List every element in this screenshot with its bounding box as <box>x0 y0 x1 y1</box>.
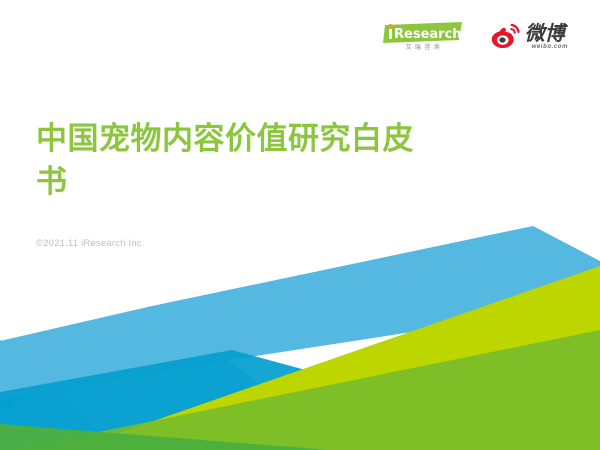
title-block: 中国宠物内容价值研究白皮书 <box>36 118 426 204</box>
weibo-logo: 微博 weibo.com <box>491 23 568 50</box>
iresearch-dot-icon <box>388 24 392 28</box>
page-title: 中国宠物内容价值研究白皮书 <box>36 118 426 204</box>
weibo-name: 微博 <box>525 23 565 43</box>
logo-row: Research 艾瑞咨询 微博 weibo.com <box>383 22 568 51</box>
weibo-eye-icon <box>491 23 521 50</box>
decorative-artwork <box>0 0 600 450</box>
iresearch-logo: Research 艾瑞咨询 <box>383 22 463 51</box>
weibo-url: weibo.com <box>532 44 568 50</box>
shape-deep-blue-slope <box>0 350 600 450</box>
iresearch-i-stem <box>389 29 392 39</box>
shape-blue-ribbon <box>0 226 600 400</box>
iresearch-subtitle: 艾瑞咨询 <box>402 45 443 51</box>
shape-mid-green-field <box>10 330 600 450</box>
shape-lime-field <box>70 266 600 450</box>
title-slide: Research 艾瑞咨询 微博 weibo.com <box>0 0 600 450</box>
iresearch-wordmark-text: Research <box>394 27 462 42</box>
shape-dark-green-foot <box>0 424 330 450</box>
copyright-notice: ©2021.11 iResearch Inc. <box>36 238 145 249</box>
weibo-wordmark: 微博 weibo.com <box>525 23 568 50</box>
shape-left-blue-wedge <box>0 340 120 450</box>
shape-blue-peak-triangle <box>0 306 352 450</box>
iresearch-wordmark: Research <box>383 22 463 43</box>
